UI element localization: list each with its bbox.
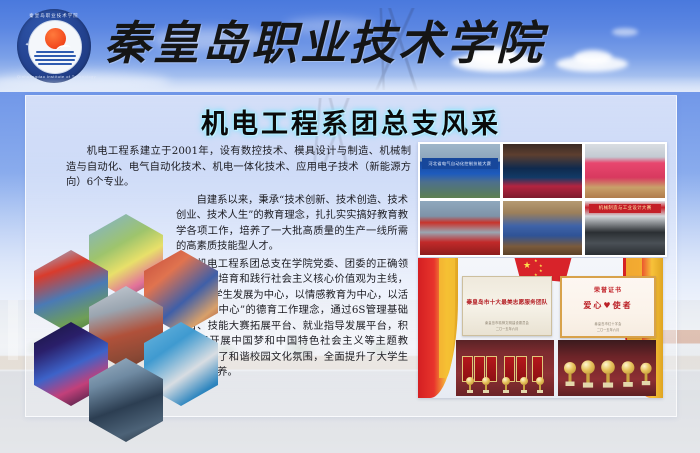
photo-cell-4 [420,201,500,255]
wave-icon [36,51,74,53]
competition-photo-grid: 河北省电气自动化控制技能大赛 机械制造与工业设计大赛 [418,142,667,257]
wave-icon [38,63,72,65]
cloud-icon [556,56,628,72]
certificate-main-text: 爱心♥使者 [562,300,654,311]
trophy-icon [520,377,528,393]
star-icon: ★ [523,262,531,271]
certificate-volunteer-team: 秦皇岛市十大最美志愿服务团队 秦皇岛市精神文明建设委员会 二〇一五年六月 [462,276,552,336]
certificate-title: 秦皇岛市十大最美志愿服务团队 [463,298,551,306]
photo-cell-2 [503,144,583,198]
trophy-icon [564,362,576,386]
certificate-love-ambassador: 荣誉证书 爱心♥使者 秦皇岛市红十字会 二〇一五年六月 [560,276,656,338]
trophy-icon [581,360,595,387]
trophy-icon [622,361,635,387]
star-icon: ★ [539,269,543,273]
red-drape-left [418,258,458,398]
trophy-icon [601,360,615,387]
trophy-icon [536,377,544,393]
page-title: 机电工程系团总支风采 [26,102,676,141]
header-banner: 秦皇岛职业技术学院 Qinhuangdao Institute of Techn… [0,0,700,92]
star-icon: ★ [534,259,538,263]
certificate-issuer: 秦皇岛市精神文明建设委员会 [463,320,551,325]
cloud-icon [612,28,638,36]
trophy-icon [482,377,490,393]
photo-cell-6: 机械制造与工业设计大赛 [585,201,665,255]
certificate-issuer: 秦皇岛市红十字会 [562,321,654,326]
university-emblem-logo: 秦皇岛职业技术学院 Qinhuangdao Institute of Techn… [17,9,91,83]
paragraph-intro: 机电工程系建立于2001年，设有数控技术、模具设计与制造、机械制造与自动化、电气… [66,144,411,191]
photo-cell-5 [503,201,583,255]
emblem-inner-disc [28,20,82,74]
content-panel: 机电工程系团总支风采 机电工程系建立于2001年，设有数控技术、模具设计与制造、… [25,95,677,417]
header-fade [0,76,700,92]
award-display-panel: ★ ★ ★ ★ ★ 秦皇岛市十大最美志愿服务团队 秦皇岛市精神文明建设委员会 二… [418,258,663,398]
shelf-plaques [456,340,554,396]
wave-icon [34,55,76,57]
institution-name-calligraphy: 秦皇岛职业技术学院 [104,6,545,80]
gold-drape-inner [439,258,455,378]
emblem-chinese-ring-text: 秦皇岛职业技术学院 [17,13,91,19]
shelf-trophies [558,340,656,396]
certificate-date: 二〇一五年六月 [463,326,551,331]
photo-cell-1: 河北省电气自动化控制技能大赛 [420,144,500,198]
slide-root: 秦皇岛职业技术学院 Qinhuangdao Institute of Techn… [0,0,700,453]
photo-cell-3 [585,144,665,198]
photo-banner-text: 机械制造与工业设计大赛 [589,204,661,213]
trophy-icon [466,377,474,393]
certificate-heading: 荣誉证书 [562,285,654,294]
certificate-date: 二〇一五年六月 [562,327,654,332]
photo-banner-text: 河北省电气自动化控制技能大赛 [422,158,498,169]
hexagon-photo-collage [34,214,214,409]
trophy-icon [502,377,510,393]
trophy-icon [640,363,651,385]
wave-icon [35,59,75,61]
